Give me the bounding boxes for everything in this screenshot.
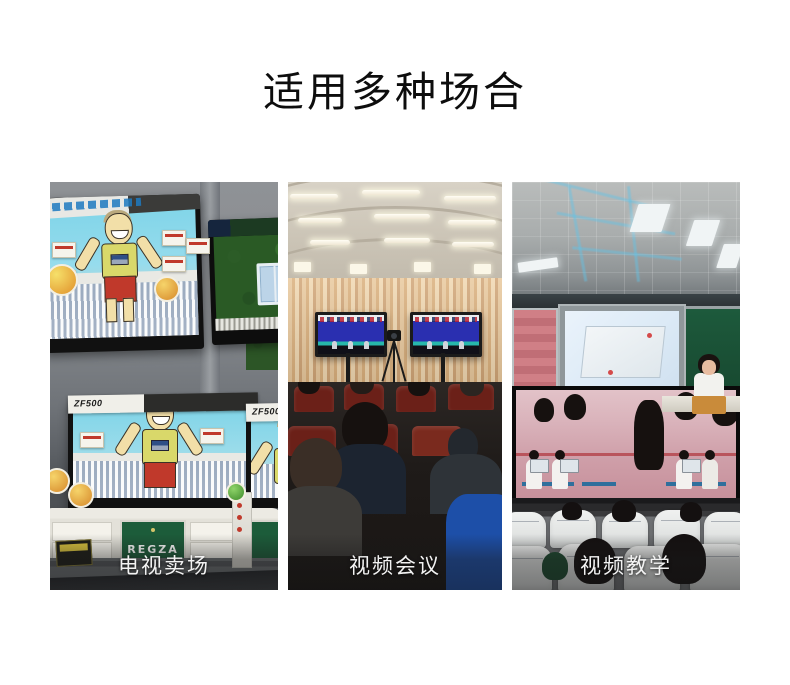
photo-tv-retail-store: ZF500 ZF500 [50,182,278,590]
tv-screen-cartoon-2 [73,405,253,498]
price-tag-4 [162,256,186,272]
display-figure-r3 [459,341,464,349]
cartoon-arm-left [73,235,102,272]
cartoon-shirt [101,242,138,279]
ceiling-lightbar-1 [290,194,338,199]
display-figure-l2 [348,341,353,349]
display-floor-line [516,453,736,456]
photo-video-conference-hall [288,182,502,590]
audience-shoulders-6 [288,486,362,556]
cabinet-shelf-1 [52,522,112,541]
display-figure-r2 [443,341,448,349]
ceiling-lightbar-2 [362,190,420,195]
gallery-panel-video-conference[interactable]: 视频会议 [288,182,502,590]
page-title: 适用多种场合 [0,68,790,117]
promo-badge-3 [68,482,94,508]
price-tag-3 [162,230,186,246]
display-figure-l1 [332,341,337,349]
display-figure-r1 [427,341,432,349]
tripod-leg-2 [393,341,395,383]
photo-video-teaching-classroom [512,182,740,590]
tv-screen-ivy-window [213,233,278,329]
slide-marker-1 [647,333,652,338]
promo-badge-4 [226,482,246,502]
promo-badge-1 [154,276,180,302]
gallery-panel-video-teaching[interactable]: 视频教学 [512,182,740,590]
control-dot-2 [237,515,242,520]
shelf-label-bar-left: ZF500 [68,392,258,413]
cartoon-character [94,212,143,332]
cartoon-character-2 [136,405,182,497]
conference-display-right-screen [413,315,479,354]
display-laptop-1 [530,459,549,473]
shelf-label-text-right: ZF500 [252,406,278,416]
camera-tripod [384,330,404,382]
cartoon-arm-right [134,234,164,271]
ceiling-lightbar-3 [444,196,496,201]
display-laptop-3 [682,459,701,473]
teacher-figure [690,354,730,414]
cartoon-shirt-2 [142,429,178,465]
cartoon-shirt-3 [274,448,278,484]
cartoon-character-3 [268,418,278,493]
display-student-4 [702,459,718,489]
control-dot-3 [237,527,242,532]
price-tag-7 [200,428,224,444]
auditorium-seat-5 [704,512,740,548]
price-tag-6 [80,432,104,448]
ceiling-panel-light-4 [474,264,491,274]
ceiling-lightbar-5 [374,214,430,219]
ceiling-panel-light-2 [350,264,367,274]
conference-display-left [315,312,387,357]
caption-tv-store: 电视卖场 [50,550,278,580]
cartoon-arm-left-2 [114,421,143,458]
conference-display-left-screen [318,315,384,354]
display-head-2 [564,394,586,420]
ceiling-lightbar-8 [384,238,430,243]
ceiling-lightbar-6 [448,220,496,225]
scene-gallery: ZF500 ZF500 [50,182,740,590]
auditorium-head-3 [680,502,702,522]
caption-video-conference: 视频会议 [288,550,502,580]
tv-screen-cartoon-3 [251,413,278,498]
price-tag-1 [52,242,76,258]
gallery-panel-tv-store[interactable]: ZF500 ZF500 [50,182,278,590]
shelf-label-text-left: ZF500 [74,398,103,408]
slide-graphic [580,326,665,378]
display-figure-l3 [364,341,369,349]
control-dot-1 [237,503,242,508]
conference-display-right [410,312,482,357]
display-head-3 [634,400,664,470]
ceiling-panel-light-3 [414,262,431,272]
cartoon-head [104,212,133,245]
ceiling-lightbar-7 [310,240,350,245]
caption-video-teaching: 视频教学 [512,550,740,580]
ivy-window-graphic [257,262,278,305]
cartoon-leg-left [106,298,118,322]
classroom-ceiling [512,182,740,300]
shelf-label-bar-right: ZF500 [246,402,278,421]
cartoon-leg-right [123,297,135,321]
tv-display-upper-right [208,216,278,345]
teacher-skirt [692,396,726,414]
ceiling-lightbar-9 [452,242,494,247]
auditorium-head-2 [612,500,636,522]
ceiling-lightbar-4 [298,218,342,223]
projection-screen-content [565,311,679,395]
auditorium-head-1 [562,502,582,520]
hall-ceiling [288,182,502,280]
auditorium-seat-1 [512,512,546,548]
ceiling-panel-light-1 [294,262,311,272]
video-camera-icon [387,330,401,341]
cartoon-shorts-2 [144,462,176,488]
display-laptop-2 [560,459,579,473]
price-tag-5 [186,238,210,254]
display-desk-row-2 [582,482,616,486]
display-head-1 [534,398,554,422]
teacher-face [702,360,716,375]
store-signage-banner-right [208,216,278,237]
